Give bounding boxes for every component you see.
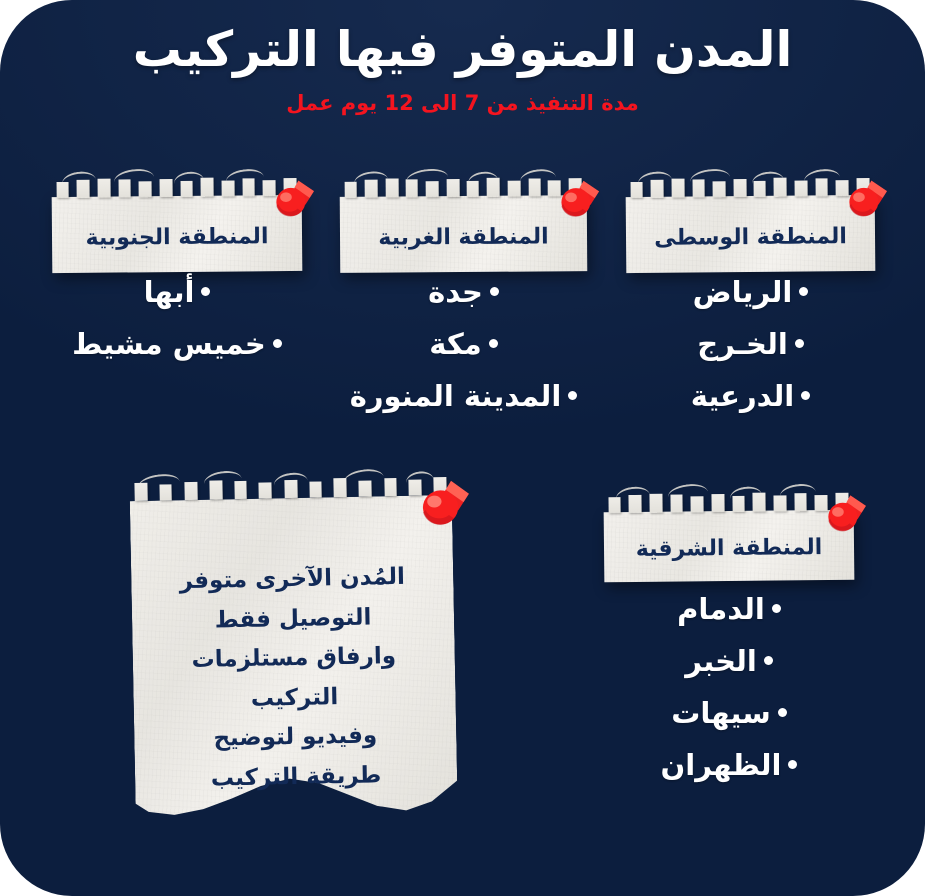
- poster-header: المدن المتوفر فيها التركيب مدة التنفيذ م…: [0, 22, 925, 116]
- list-item: الرياض: [626, 278, 875, 307]
- city-name: الدمام: [677, 592, 765, 626]
- list-item: الخـرج: [626, 330, 875, 359]
- city-list-central: الرياض الخـرج الدرعية: [626, 278, 875, 434]
- city-name: الخبر: [685, 644, 757, 678]
- city-name: سيهات: [671, 696, 771, 730]
- city-name: خميس مشيط: [72, 327, 266, 361]
- list-item: الدرعية: [626, 382, 875, 411]
- region-card-central[interactable]: المنطقة الوسطى: [626, 195, 876, 273]
- region-title-western: المنطقة الغربية: [340, 223, 587, 252]
- execution-time-subtitle: مدة التنفيذ من 7 الى 12 يوم عمل: [0, 91, 925, 116]
- bullet-dot-icon: [788, 760, 797, 769]
- region-card-western[interactable]: المنطقة الغربية: [340, 195, 588, 273]
- city-name: الظهران: [661, 748, 782, 782]
- city-name: مكة: [429, 327, 481, 361]
- bullet-dot-icon: [795, 339, 804, 348]
- region-title-central: المنطقة الوسطى: [626, 223, 875, 253]
- city-name: أبها: [144, 275, 195, 309]
- city-list-western: جدة مكة المدينة المنورة: [340, 278, 587, 434]
- note-line: المُدن الآخرى متوفر: [147, 557, 438, 602]
- poster-root: المدن المتوفر فيها التركيب مدة التنفيذ م…: [0, 0, 925, 896]
- bullet-dot-icon: [778, 708, 787, 717]
- perforated-edge: [603, 493, 853, 514]
- region-title-eastern: المنطقة الشرقية: [604, 534, 854, 564]
- list-item: خميس مشيط: [52, 330, 302, 359]
- poster-panel: المدن المتوفر فيها التركيب مدة التنفيذ م…: [0, 0, 925, 896]
- city-name: جدة: [428, 275, 483, 309]
- perforated-edge: [626, 178, 875, 198]
- note-line: التوصيل فقط: [148, 597, 439, 642]
- region-card-eastern[interactable]: المنطقة الشرقية: [604, 510, 855, 583]
- list-item: الخبر: [604, 647, 854, 676]
- page-title: المدن المتوفر فيها التركيب: [0, 22, 925, 79]
- list-item: الظهران: [604, 751, 854, 780]
- bullet-dot-icon: [490, 287, 499, 296]
- list-item: جدة: [340, 278, 587, 307]
- perforated-edge: [340, 178, 587, 198]
- list-item: الدمام: [604, 595, 854, 624]
- note-body-text: المُدن الآخرى متوفر التوصيل فقط وارفاق م…: [147, 557, 442, 800]
- other-cities-note[interactable]: المُدن الآخرى متوفر التوصيل فقط وارفاق م…: [130, 495, 458, 841]
- city-list-eastern: الدمام الخبر سيهات الظهران: [604, 595, 854, 803]
- list-item: أبها: [52, 278, 302, 307]
- city-name: الخـرج: [697, 327, 788, 361]
- bullet-dot-icon: [568, 391, 577, 400]
- bullet-dot-icon: [772, 604, 781, 613]
- region-title-southern: المنطقة الجنوبية: [52, 223, 302, 253]
- perforated-edge: [52, 178, 302, 198]
- bullet-dot-icon: [799, 287, 808, 296]
- bullet-dot-icon: [489, 339, 498, 348]
- note-line: طريقة التركيب: [151, 755, 442, 800]
- city-name: الرياض: [693, 275, 793, 309]
- list-item: مكة: [340, 330, 587, 359]
- list-item: المدينة المنورة: [340, 382, 587, 411]
- note-line: وارفاق مستلزمات التركيب: [148, 636, 439, 721]
- bullet-dot-icon: [764, 656, 773, 665]
- bullet-dot-icon: [273, 339, 282, 348]
- region-card-southern[interactable]: المنطقة الجنوبية: [52, 195, 303, 273]
- bullet-dot-icon: [201, 287, 210, 296]
- city-list-southern: أبها خميس مشيط: [52, 278, 302, 382]
- list-item: سيهات: [604, 699, 854, 728]
- bullet-dot-icon: [801, 391, 810, 400]
- note-line: وفيديو لتوضيح: [150, 715, 441, 760]
- city-name: المدينة المنورة: [350, 379, 562, 413]
- city-name: الدرعية: [691, 379, 795, 413]
